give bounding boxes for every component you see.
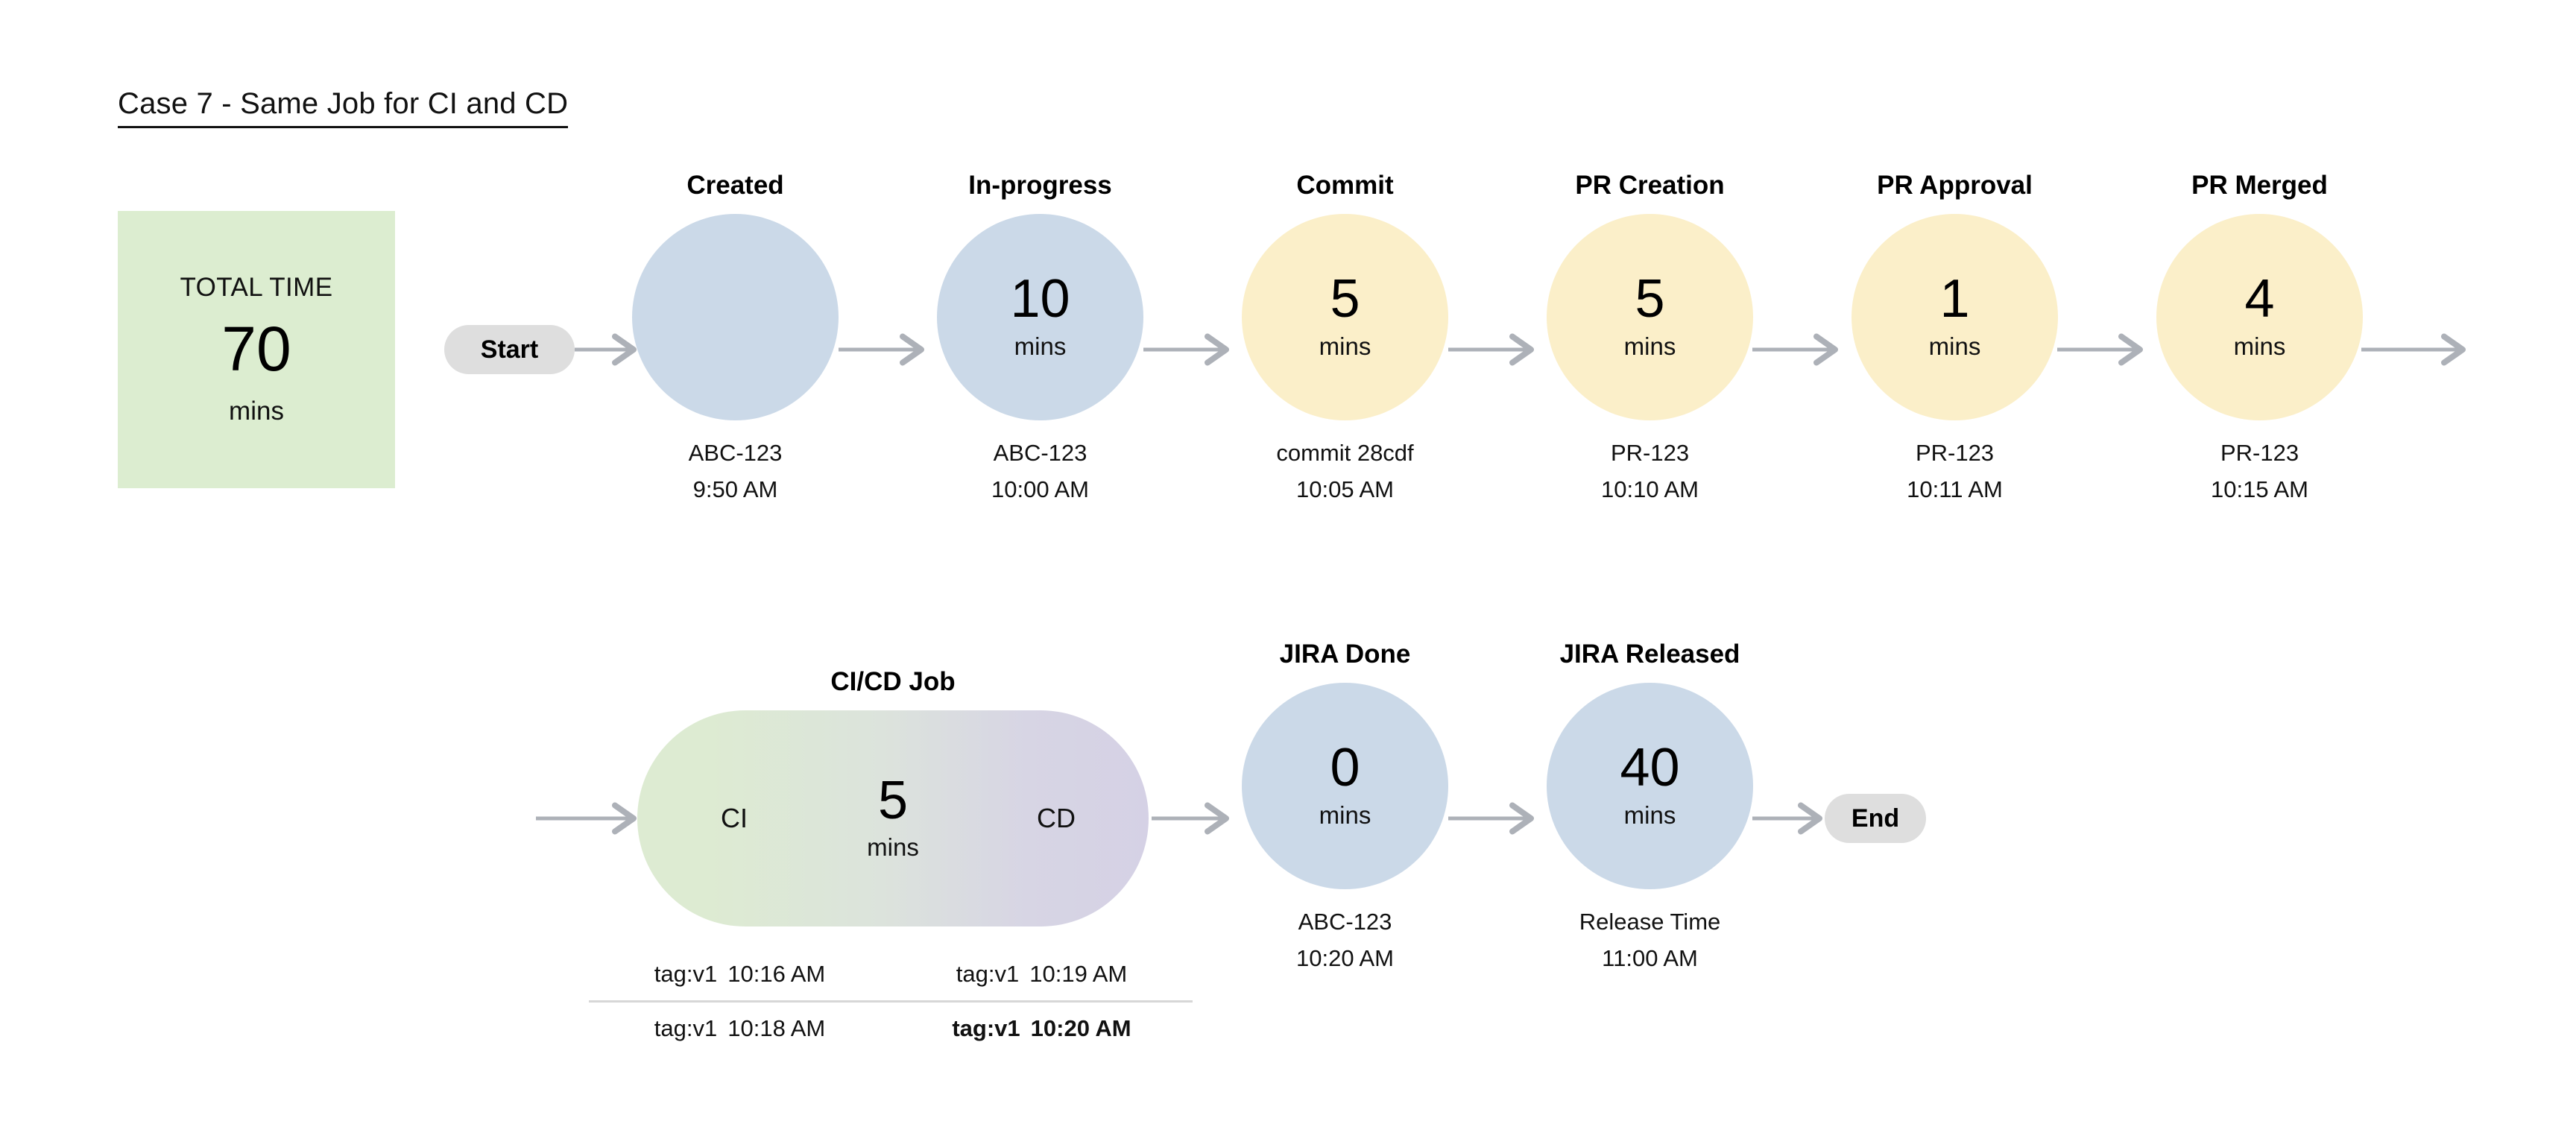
node-unit: mins [1319,801,1371,830]
node-title: JIRA Released [1560,640,1740,669]
node-created[interactable]: Created ABC-123 9:50 AM [632,214,839,485]
node-meta-timestamp: 10:11 AM [1907,472,2003,508]
node-title: In-progress [968,171,1112,201]
node-pr-merged[interactable]: PR Merged 4 mins PR-123 10:15 AM [2156,214,2363,485]
node-bubble [632,214,839,420]
node-meta: ABC-123 10:00 AM [991,435,1089,508]
node-meta: Release Time 11:00 AM [1579,904,1721,977]
node-value: 5 [1330,274,1360,324]
node-unit: mins [867,833,919,862]
node-title: Commit [1296,171,1393,201]
node-value: 5 [1635,274,1664,324]
node-unit: mins [1319,332,1371,361]
node-value: 0 [1330,742,1360,793]
total-time-value: 70 [221,318,291,380]
table-row: tag:v1 10:16 AM tag:v1 10:19 AM [589,948,1193,1000]
node-bubble: 0 mins [1242,683,1448,889]
tag-time: 10:20 AM [1031,1015,1131,1042]
node-bubble: 5 mins [1242,214,1448,420]
ci-label: CI [721,803,748,834]
node-unit: mins [1624,332,1676,361]
total-time-card: TOTAL TIME 70 mins [118,211,395,488]
node-value: 1 [1939,274,1969,324]
node-meta-timestamp: 10:10 AM [1601,472,1699,508]
page-title: Case 7 - Same Job for CI and CD [118,87,568,128]
node-title: PR Approval [1877,171,2033,201]
node-value: 4 [2244,274,2274,324]
node-value: 10 [1010,274,1070,324]
node-meta-timestamp: 10:05 AM [1276,472,1413,508]
node-value: 40 [1620,742,1679,793]
node-title: CI/CD Job [830,667,955,697]
node-title: Created [686,171,783,201]
node-meta-timestamp: 9:50 AM [689,472,783,508]
node-jira-done[interactable]: JIRA Done 0 mins ABC-123 10:20 AM [1242,683,1448,954]
node-title: PR Creation [1575,171,1724,201]
tag-name: tag:v1 [956,961,1019,988]
cd-label: CD [1037,803,1076,834]
node-bubble: 5 mins [1547,214,1753,420]
tag-entry: tag:v1 10:18 AM [589,1015,891,1042]
node-meta-primary: PR-123 [2211,435,2308,472]
tag-time: 10:18 AM [727,1015,825,1042]
node-title: PR Merged [2191,171,2328,201]
node-pr-approval[interactable]: PR Approval 1 mins PR-123 10:11 AM [1851,214,2058,485]
tag-entry: tag:v1 10:16 AM [589,961,891,988]
node-bubble: 4 mins [2156,214,2363,420]
total-time-unit: mins [229,397,284,426]
tag-name: tag:v1 [654,1015,717,1042]
cicd-job-pill: CI 5 mins CD [637,710,1149,926]
node-meta-primary: ABC-123 [689,435,783,472]
node-pr-creation[interactable]: PR Creation 5 mins PR-123 10:10 AM [1547,214,1753,485]
tag-entry: tag:v1 10:19 AM [891,961,1193,988]
tag-name: tag:v1 [952,1015,1020,1042]
cicd-tag-table: tag:v1 10:16 AM tag:v1 10:19 AM tag:v1 1… [589,948,1193,1055]
node-cicd-job[interactable]: CI/CD Job CI 5 mins CD [637,710,1149,926]
cicd-job-duration: 5 mins [867,775,919,862]
end-terminal[interactable]: End [1825,794,1926,843]
node-meta: PR-123 10:10 AM [1601,435,1699,508]
node-in-progress[interactable]: In-progress 10 mins ABC-123 10:00 AM [937,214,1143,485]
node-commit[interactable]: Commit 5 mins commit 28cdf 10:05 AM [1242,214,1448,485]
tag-time: 10:19 AM [1029,961,1127,988]
node-meta-primary: PR-123 [1601,435,1699,472]
node-meta-timestamp: 10:20 AM [1296,941,1394,977]
node-meta-timestamp: 10:00 AM [991,472,1089,508]
node-meta-primary: commit 28cdf [1276,435,1413,472]
node-value: 5 [878,775,908,826]
node-meta-primary: ABC-123 [991,435,1089,472]
node-unit: mins [1624,801,1676,830]
tag-name: tag:v1 [654,961,717,988]
node-meta: commit 28cdf 10:05 AM [1276,435,1413,508]
node-jira-released[interactable]: JIRA Released 40 mins Release Time 11:00… [1547,683,1753,954]
node-bubble: 40 mins [1547,683,1753,889]
total-time-label: TOTAL TIME [180,273,333,303]
connector-layer [0,0,2576,1127]
node-unit: mins [1014,332,1067,361]
node-meta-timestamp: 11:00 AM [1579,941,1721,977]
node-bubble: 1 mins [1851,214,2058,420]
node-title: JIRA Done [1280,640,1411,669]
node-meta: PR-123 10:11 AM [1907,435,2003,508]
node-meta: ABC-123 10:20 AM [1296,904,1394,977]
table-row: tag:v1 10:18 AM tag:v1 10:20 AM [589,1003,1193,1055]
node-meta-primary: Release Time [1579,904,1721,941]
start-terminal[interactable]: Start [444,325,575,374]
node-meta: ABC-123 9:50 AM [689,435,783,508]
node-meta: PR-123 10:15 AM [2211,435,2308,508]
tag-entry: tag:v1 10:20 AM [891,1015,1193,1042]
node-unit: mins [2234,332,2286,361]
tag-time: 10:16 AM [727,961,825,988]
node-bubble: 10 mins [937,214,1143,420]
node-meta-primary: PR-123 [1907,435,2003,472]
node-unit: mins [1929,332,1981,361]
node-meta-primary: ABC-123 [1296,904,1394,941]
node-meta-timestamp: 10:15 AM [2211,472,2308,508]
